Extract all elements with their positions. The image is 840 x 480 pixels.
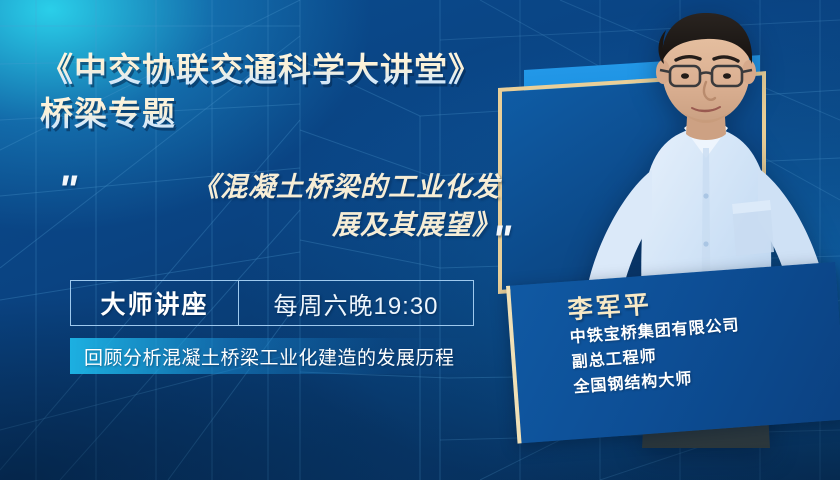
topic-quote-line-1: 《混凝土桥梁的工业化发 bbox=[90, 168, 500, 206]
lecture-poster: 李军平 中铁宝桥集团有限公司 副总工程师 全国钢结构大师 《中交协联交通科学大讲… bbox=[0, 0, 840, 480]
lecture-label: 大师讲座 bbox=[71, 281, 239, 325]
quote-open-mark: " bbox=[58, 170, 77, 210]
subtitle-text: 回顾分析混凝土桥梁工业化建造的发展历程 bbox=[70, 343, 455, 370]
speaker-info-plaque: 李军平 中铁宝桥集团有限公司 副总工程师 全国钢结构大师 bbox=[506, 262, 840, 444]
topic-quote-block: " 《混凝土桥梁的工业化发 展及其展望》 " bbox=[58, 168, 528, 264]
subtitle-strip: 回顾分析混凝土桥梁工业化建造的发展历程 bbox=[70, 338, 482, 374]
poster-heading: 《中交协联交通科学大讲堂》 桥梁专题 bbox=[40, 48, 600, 135]
heading-line-2: 桥梁专题 bbox=[40, 92, 600, 136]
lecture-info-box: 大师讲座 每周六晚19:30 bbox=[70, 280, 474, 326]
speaker-info-content: 李军平 中铁宝桥集团有限公司 副总工程师 全国钢结构大师 bbox=[510, 262, 840, 443]
topic-quote-line-2: 展及其展望》 bbox=[90, 206, 500, 244]
topic-quote-text: 《混凝土桥梁的工业化发 展及其展望》 bbox=[90, 168, 500, 245]
heading-line-1: 《中交协联交通科学大讲堂》 bbox=[40, 48, 600, 92]
lecture-schedule: 每周六晚19:30 bbox=[239, 281, 473, 325]
quote-close-mark: " bbox=[492, 220, 511, 260]
